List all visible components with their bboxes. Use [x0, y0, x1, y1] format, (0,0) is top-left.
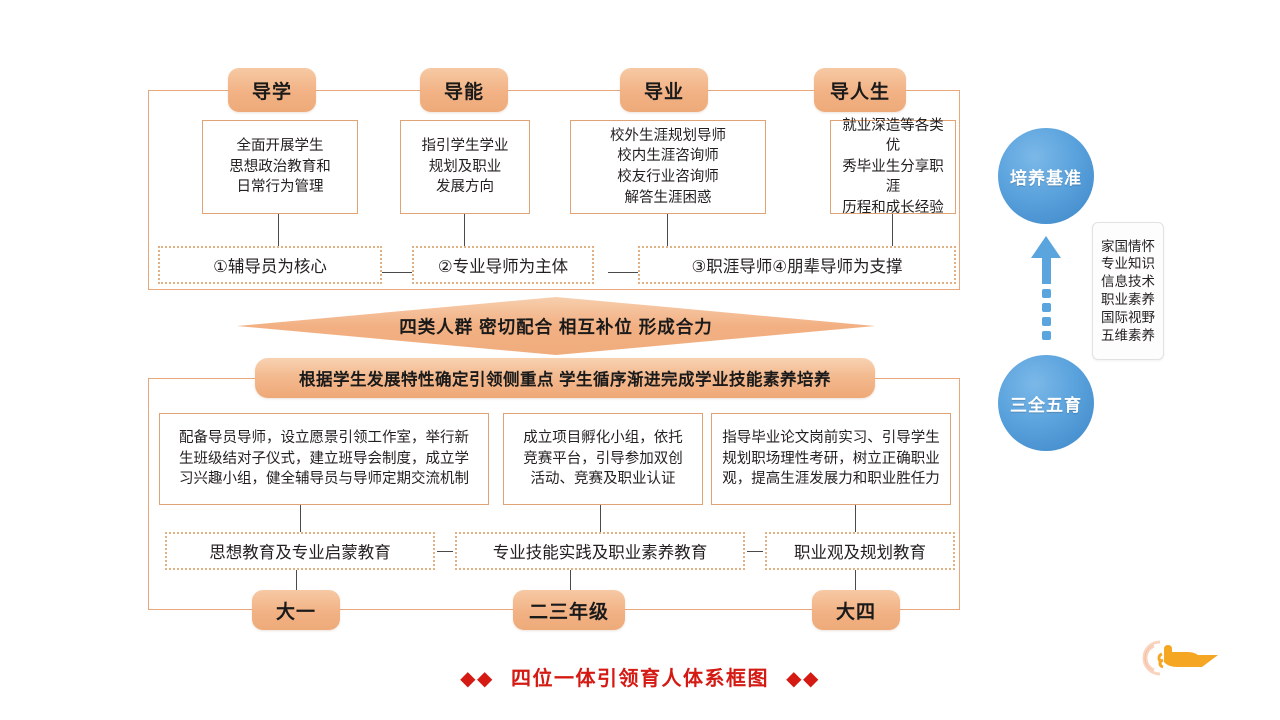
quality-item: 国际视野: [1101, 309, 1155, 327]
connector-edu-1-2: [437, 551, 453, 552]
measure-line: 指导毕业论文岗前实习、引导学生: [718, 428, 944, 449]
connector-desc1: [278, 214, 279, 246]
pointing-hand-logo: [1142, 636, 1242, 680]
connector-measure3: [855, 505, 856, 532]
grade-pill-freshman[interactable]: 大一: [252, 590, 340, 630]
description-box-1: 全面开展学生 思想政治教育和 日常行为管理: [202, 120, 358, 214]
measure-line: 竞赛平台，引导参加双创: [510, 449, 696, 470]
measure-box-3: 指导毕业论文岗前实习、引导学生 规划职场理性考研，树立正确职业 观，提高生涯发展…: [711, 413, 951, 505]
connector-role-2-3: [608, 272, 638, 273]
role-box-3: ③职涯导师④朋辈导师为支撑: [638, 246, 956, 284]
role-box-2-label: ②专业导师为主体: [438, 253, 568, 277]
caption-decor-left: ◆◆: [460, 668, 494, 690]
quality-item: 家国情怀: [1101, 238, 1155, 256]
connector-desc4: [892, 214, 893, 246]
connector-edu3-grade: [855, 570, 856, 592]
measure-line: 观，提高生涯发展力和职业胜任力: [718, 469, 944, 490]
connector-desc3: [667, 214, 668, 246]
connector-edu-2-3: [747, 551, 763, 552]
description-line: 思想政治教育和: [209, 157, 351, 178]
arrow-dot: [1042, 317, 1051, 326]
measure-line: 活动、竞赛及职业认证: [510, 469, 696, 490]
connector-role-1-2: [382, 272, 412, 273]
description-line: 发展方向: [407, 177, 523, 198]
education-box-3: 职业观及规划教育: [765, 532, 955, 570]
wide-banner: 根据学生发展特性确定引领侧重点 学生循序渐进完成学业技能素养培养: [255, 358, 875, 398]
arrow-head-icon: [1031, 236, 1061, 258]
grade-pill-sophomore-junior-label: 二三年级: [529, 597, 609, 624]
description-line: 秀毕业生分享职涯: [837, 157, 949, 198]
description-box-2: 指引学生学业 规划及职业 发展方向: [400, 120, 530, 214]
connector-edu2-grade: [570, 570, 571, 592]
pill-daoneng[interactable]: 导能: [420, 68, 508, 112]
description-line: 校外生涯规划导师: [577, 126, 759, 147]
quality-item: 职业素养: [1101, 291, 1155, 309]
arrow-dot: [1042, 303, 1051, 312]
measure-line: 配备导员导师，设立愿景引领工作室，举行新: [166, 428, 482, 449]
pill-daorensheng-label: 导人生: [830, 77, 890, 104]
qualities-list: 家国情怀 专业知识 信息技术 职业素养 国际视野 五维素养: [1092, 222, 1164, 360]
connector-measure1: [300, 505, 301, 532]
role-box-2: ②专业导师为主体: [412, 246, 594, 284]
pill-daoneng-label: 导能: [444, 77, 484, 104]
connector-desc2: [464, 214, 465, 246]
measure-line: 成立项目孵化小组，依托: [510, 428, 696, 449]
arrow-shaft: [1042, 258, 1051, 284]
grade-pill-freshman-label: 大一: [276, 597, 316, 624]
description-box-4: 就业深造等各类优 秀毕业生分享职涯 历程和成长经验: [830, 120, 956, 214]
description-line: 就业深造等各类优: [837, 116, 949, 157]
measure-box-1: 配备导员导师，设立愿景引领工作室，举行新 生班级结对子仪式，建立班导会制度，成立…: [159, 413, 489, 505]
pointing-hand-icon: [1142, 636, 1242, 680]
circle-cultivation-benchmark[interactable]: 培养基准: [998, 128, 1094, 224]
education-box-1-label: 思想教育及专业启蒙教育: [209, 539, 391, 563]
description-line: 规划及职业: [407, 157, 523, 178]
upward-arrow: [1031, 236, 1061, 344]
description-line: 校友行业咨询师: [577, 167, 759, 188]
education-box-3-label: 职业观及规划教育: [794, 539, 926, 563]
grade-pill-sophomore-junior[interactable]: 二三年级: [513, 590, 625, 630]
circle-three-complete-five-education-label: 三全五育: [1010, 391, 1082, 416]
circle-three-complete-five-education[interactable]: 三全五育: [998, 355, 1094, 451]
quality-item: 五维素养: [1101, 327, 1155, 345]
connector-edu1-grade: [296, 570, 297, 592]
pill-daoxue[interactable]: 导学: [228, 68, 316, 112]
diamond-banner-label: 四类人群 密切配合 相互补位 形成合力: [237, 314, 875, 339]
measure-line: 生班级结对子仪式，建立班导会制度，成立学: [166, 449, 482, 470]
description-line: 校内生涯咨询师: [577, 146, 759, 167]
role-box-1-label: ①辅导员为核心: [213, 253, 327, 277]
role-box-3-label: ③职涯导师④朋辈导师为支撑: [691, 253, 902, 277]
education-box-1: 思想教育及专业启蒙教育: [165, 532, 435, 570]
pill-daorensheng[interactable]: 导人生: [814, 68, 906, 112]
description-box-3: 校外生涯规划导师 校内生涯咨询师 校友行业咨询师 解答生涯困惑: [570, 120, 766, 214]
description-line: 指引学生学业: [407, 136, 523, 157]
measure-box-2: 成立项目孵化小组，依托 竞赛平台，引导参加双创 活动、竞赛及职业认证: [503, 413, 703, 505]
grade-pill-senior-label: 大四: [836, 597, 876, 624]
quality-item: 专业知识: [1101, 255, 1155, 273]
arrow-dot: [1042, 331, 1051, 340]
caption-title: 四位一体引领育人体系框图: [511, 668, 769, 690]
connector-measure2: [600, 505, 601, 532]
description-line: 解答生涯困惑: [577, 188, 759, 209]
grade-pill-senior[interactable]: 大四: [812, 590, 900, 630]
caption-decor-right: ◆◆: [786, 668, 820, 690]
education-box-2-label: 专业技能实践及职业素养教育: [493, 539, 708, 563]
role-box-1: ①辅导员为核心: [158, 246, 382, 284]
education-box-2: 专业技能实践及职业素养教育: [455, 532, 745, 570]
wide-banner-label: 根据学生发展特性确定引领侧重点 学生循序渐进完成学业技能素养培养: [299, 366, 831, 390]
quality-item: 信息技术: [1101, 273, 1155, 291]
pill-daoxue-label: 导学: [252, 77, 292, 104]
measure-line: 规划职场理性考研，树立正确职业: [718, 449, 944, 470]
measure-line: 习兴趣小组，健全辅导员与导师定期交流机制: [166, 469, 482, 490]
pill-daoye[interactable]: 导业: [620, 68, 708, 112]
description-line: 日常行为管理: [209, 177, 351, 198]
circle-cultivation-benchmark-label: 培养基准: [1010, 164, 1082, 189]
description-line: 全面开展学生: [209, 136, 351, 157]
pill-daoye-label: 导业: [644, 77, 684, 104]
diagram-caption: ◆◆ 四位一体引领育人体系框图 ◆◆: [0, 662, 1280, 691]
diagram-canvas: 导学 导能 导业 导人生 全面开展学生 思想政治教育和 日常行为管理 指引学生学…: [0, 0, 1280, 720]
arrow-dot: [1042, 289, 1051, 298]
